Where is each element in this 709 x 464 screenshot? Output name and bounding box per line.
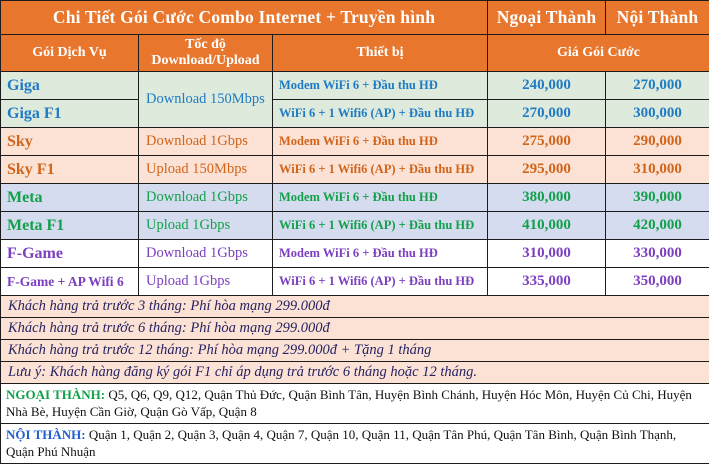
outer-district-label: NGOẠI THÀNH: [6,387,105,402]
package-speed: Upload 150Mbps [139,156,273,184]
inner-district-row: NỘI THÀNH: Quận 1, Quận 2, Quận 3, Quận … [1,424,709,464]
price-outer: 380,000 [488,184,606,212]
price-outer: 410,000 [488,212,606,240]
package-device: Modem WiFi 6 + Đầu thu HĐ [273,128,488,156]
package-speed: Download 1Gbps [139,128,273,156]
price-table-sheet: Chi Tiết Gói Cước Combo Internet + Truyề… [0,0,709,441]
price-inner: 290,000 [606,128,709,156]
note-row: Khách hàng trả trước 6 tháng: Phí hòa mạ… [1,318,709,340]
zone-inner-header: Nội Thành [606,1,709,35]
package-speed: Download 1Gbps [139,240,273,268]
table-row: F-Game + AP Wifi 6 Upload 1Gbps WiFi 6 +… [1,268,709,296]
price-outer: 240,000 [488,72,606,100]
package-speed: Download 1Gbps [139,184,273,212]
inner-district-cell: NỘI THÀNH: Quận 1, Quận 2, Quận 3, Quận … [1,424,709,464]
package-speed: Upload 1Gbps [139,212,273,240]
package-speed: Download 150Mbps [139,72,273,128]
price-inner: 420,000 [606,212,709,240]
package-device: Modem WiFi 6 + Đầu thu HĐ [273,72,488,100]
price-inner: 300,000 [606,100,709,128]
price-inner: 350,000 [606,268,709,296]
page-title: Chi Tiết Gói Cước Combo Internet + Truyề… [1,1,488,35]
package-device: Modem WiFi 6 + Đầu thu HĐ [273,184,488,212]
table-row: Sky F1 Upload 150Mbps WiFi 6 + 1 Wifi6 (… [1,156,709,184]
price-outer: 295,000 [488,156,606,184]
note-row: Lưu ý: Khách hàng đăng ký gói F1 chỉ áp … [1,362,709,384]
package-name: Giga [1,72,139,100]
price-outer: 275,000 [488,128,606,156]
outer-district-row: NGOẠI THÀNH: Q5, Q6, Q9, Q12, Quận Thủ Đ… [1,384,709,424]
note-text: Lưu ý: Khách hàng đăng ký gói F1 chỉ áp … [1,362,709,384]
note-row: Khách hàng trả trước 12 tháng: Phí hòa m… [1,340,709,362]
combo-price-table: Chi Tiết Gói Cước Combo Internet + Truyề… [0,0,709,464]
column-header-package: Gói Dịch Vụ [1,35,139,72]
price-outer: 270,000 [488,100,606,128]
inner-district-label: NỘI THÀNH: [6,427,86,442]
package-name: Meta [1,184,139,212]
price-inner: 330,000 [606,240,709,268]
table-row: Meta Download 1Gbps Modem WiFi 6 + Đầu t… [1,184,709,212]
table-column-header-row: Gói Dịch Vụ Tốc độ Download/Upload Thiết… [1,35,709,72]
package-device: WiFi 6 + 1 Wifi6 (AP) + Đầu thu HĐ [273,268,488,296]
package-device: WiFi 6 + 1 Wifi6 (AP) + Đầu thu HĐ [273,212,488,240]
package-name: Sky [1,128,139,156]
package-name: F-Game [1,240,139,268]
package-speed: Upload 1Gbps [139,268,273,296]
note-text: Khách hàng trả trước 3 tháng: Phí hòa mạ… [1,296,709,318]
note-text: Khách hàng trả trước 6 tháng: Phí hòa mạ… [1,318,709,340]
table-row: F-Game Download 1Gbps Modem WiFi 6 + Đầu… [1,240,709,268]
column-header-speed: Tốc độ Download/Upload [139,35,273,72]
price-inner: 310,000 [606,156,709,184]
note-text: Khách hàng trả trước 12 tháng: Phí hòa m… [1,340,709,362]
price-outer: 335,000 [488,268,606,296]
column-header-price: Giá Gói Cước [488,35,709,72]
table-row: Meta F1 Upload 1Gbps WiFi 6 + 1 Wifi6 (A… [1,212,709,240]
column-header-device: Thiết bị [273,35,488,72]
outer-district-cell: NGOẠI THÀNH: Q5, Q6, Q9, Q12, Quận Thủ Đ… [1,384,709,424]
package-name: Meta F1 [1,212,139,240]
table-row: Giga Download 150Mbps Modem WiFi 6 + Đầu… [1,72,709,100]
package-name: Giga F1 [1,100,139,128]
price-inner: 270,000 [606,72,709,100]
table-row: Giga F1 WiFi 6 + 1 Wifi6 (AP) + Đầu thu … [1,100,709,128]
price-outer: 310,000 [488,240,606,268]
outer-district-list: Q5, Q6, Q9, Q12, Quận Thủ Đức, Quận Bình… [6,387,692,419]
zone-outer-header: Ngoại Thành [488,1,606,35]
inner-district-list: Quận 1, Quận 2, Quận 3, Quận 4, Quận 7, … [6,427,676,459]
note-row: Khách hàng trả trước 3 tháng: Phí hòa mạ… [1,296,709,318]
price-inner: 390,000 [606,184,709,212]
package-device: WiFi 6 + 1 Wifi6 (AP) + Đầu thu HĐ [273,100,488,128]
table-title-row: Chi Tiết Gói Cước Combo Internet + Truyề… [1,1,709,35]
package-name: F-Game + AP Wifi 6 [1,268,139,296]
package-name: Sky F1 [1,156,139,184]
package-device: Modem WiFi 6 + Đầu thu HĐ [273,240,488,268]
package-device: WiFi 6 + 1 Wifi6 (AP) + Đầu thu HĐ [273,156,488,184]
table-row: Sky Download 1Gbps Modem WiFi 6 + Đầu th… [1,128,709,156]
